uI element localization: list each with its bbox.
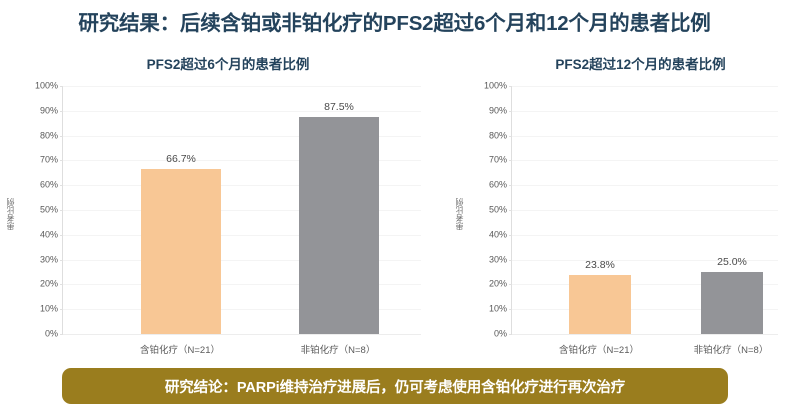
chart-title-right: PFS2超过12个月的患者比例 — [432, 53, 789, 73]
chart-pfs2-6-months: PFS2超过6个月的患者比例 患者比例 100%90%80%70%60%50%4… — [0, 46, 432, 362]
y-tick-mark — [60, 284, 63, 285]
y-tick-mark — [509, 309, 512, 310]
y-tick-mark — [509, 111, 512, 112]
gridline — [63, 111, 421, 112]
y-tick-mark — [509, 185, 512, 186]
bar — [569, 275, 631, 334]
gridline — [63, 86, 421, 87]
y-tick-label: 70% — [16, 156, 58, 165]
bar — [701, 272, 763, 334]
y-tick-mark — [509, 136, 512, 137]
y-tick-mark — [60, 235, 63, 236]
y-tick-label: 20% — [16, 280, 58, 289]
y-tick-mark — [60, 160, 63, 161]
y-tick-mark — [60, 334, 63, 335]
x-axis-label: 非铂化疗（N=8） — [694, 342, 769, 356]
y-axis-title-right: 患者比例 — [454, 198, 465, 230]
chart-pfs2-12-months: PFS2超过12个月的患者比例 患者比例 100%90%80%70%60%50%… — [432, 46, 789, 362]
bar-value-label: 87.5% — [324, 101, 354, 113]
y-axis-title-left: 患者比例 — [5, 198, 16, 230]
y-axis-ticks-right: 100%90%80%70%60%50%40%30%20%10%0% — [465, 86, 507, 334]
y-tick-mark — [509, 284, 512, 285]
x-axis-labels-right: 含铂化疗（N=21）非铂化疗（N=8） — [511, 342, 777, 360]
conclusion-banner: 研究结论：PARPi维持治疗进展后，仍可考虑使用含铂化疗进行再次治疗 — [62, 368, 728, 404]
y-tick-mark — [509, 260, 512, 261]
y-tick-label: 30% — [16, 255, 58, 264]
y-tick-mark — [60, 260, 63, 261]
y-tick-label: 0% — [465, 330, 507, 339]
y-tick-mark — [60, 86, 63, 87]
y-axis-ticks-left: 100%90%80%70%60%50%40%30%20%10%0% — [16, 86, 58, 334]
y-tick-label: 80% — [16, 131, 58, 140]
bar — [299, 117, 379, 334]
y-tick-label: 50% — [16, 206, 58, 215]
y-tick-label: 30% — [465, 255, 507, 264]
gridline — [512, 185, 778, 186]
bar — [141, 169, 221, 334]
conclusion-text: 研究结论：PARPi维持治疗进展后，仍可考虑使用含铂化疗进行再次治疗 — [165, 376, 625, 397]
y-tick-label: 80% — [465, 131, 507, 140]
bar-value-label: 66.7% — [166, 153, 196, 165]
y-tick-label: 60% — [465, 181, 507, 190]
gridline — [512, 136, 778, 137]
y-tick-mark — [509, 160, 512, 161]
y-tick-label: 0% — [16, 330, 58, 339]
y-tick-mark — [509, 334, 512, 335]
x-axis-label: 非铂化疗（N=8） — [301, 342, 376, 356]
y-tick-label: 50% — [465, 206, 507, 215]
gridline — [512, 235, 778, 236]
bar-value-label: 25.0% — [717, 256, 747, 268]
bar-value-label: 23.8% — [585, 259, 615, 271]
y-tick-label: 60% — [16, 181, 58, 190]
y-tick-label: 90% — [16, 106, 58, 115]
y-tick-label: 10% — [465, 305, 507, 314]
x-axis-label: 含铂化疗（N=21） — [559, 342, 639, 356]
plot-area-left: 66.7%87.5% — [62, 86, 421, 335]
gridline — [512, 86, 778, 87]
y-tick-mark — [60, 309, 63, 310]
y-tick-mark — [60, 210, 63, 211]
y-tick-mark — [509, 86, 512, 87]
y-tick-mark — [509, 235, 512, 236]
y-tick-label: 100% — [16, 82, 58, 91]
y-tick-mark — [60, 185, 63, 186]
y-tick-label: 40% — [465, 230, 507, 239]
gridline — [512, 160, 778, 161]
gridline — [512, 210, 778, 211]
y-tick-label: 70% — [465, 156, 507, 165]
page-title: 研究结果：后续含铂或非铂化疗的PFS2超过6个月和12个月的患者比例 — [0, 6, 789, 36]
chart-title-left: PFS2超过6个月的患者比例 — [0, 53, 432, 73]
gridline — [512, 111, 778, 112]
y-tick-mark — [60, 111, 63, 112]
charts-container: PFS2超过6个月的患者比例 患者比例 100%90%80%70%60%50%4… — [0, 46, 789, 362]
y-tick-label: 10% — [16, 305, 58, 314]
x-axis-labels-left: 含铂化疗（N=21）非铂化疗（N=8） — [62, 342, 420, 360]
y-tick-mark — [509, 210, 512, 211]
plot-area-right: 23.8%25.0% — [511, 86, 778, 335]
y-tick-mark — [60, 136, 63, 137]
y-tick-label: 40% — [16, 230, 58, 239]
y-tick-label: 100% — [465, 82, 507, 91]
x-axis-label: 含铂化疗（N=21） — [140, 342, 220, 356]
y-tick-label: 20% — [465, 280, 507, 289]
y-tick-label: 90% — [465, 106, 507, 115]
